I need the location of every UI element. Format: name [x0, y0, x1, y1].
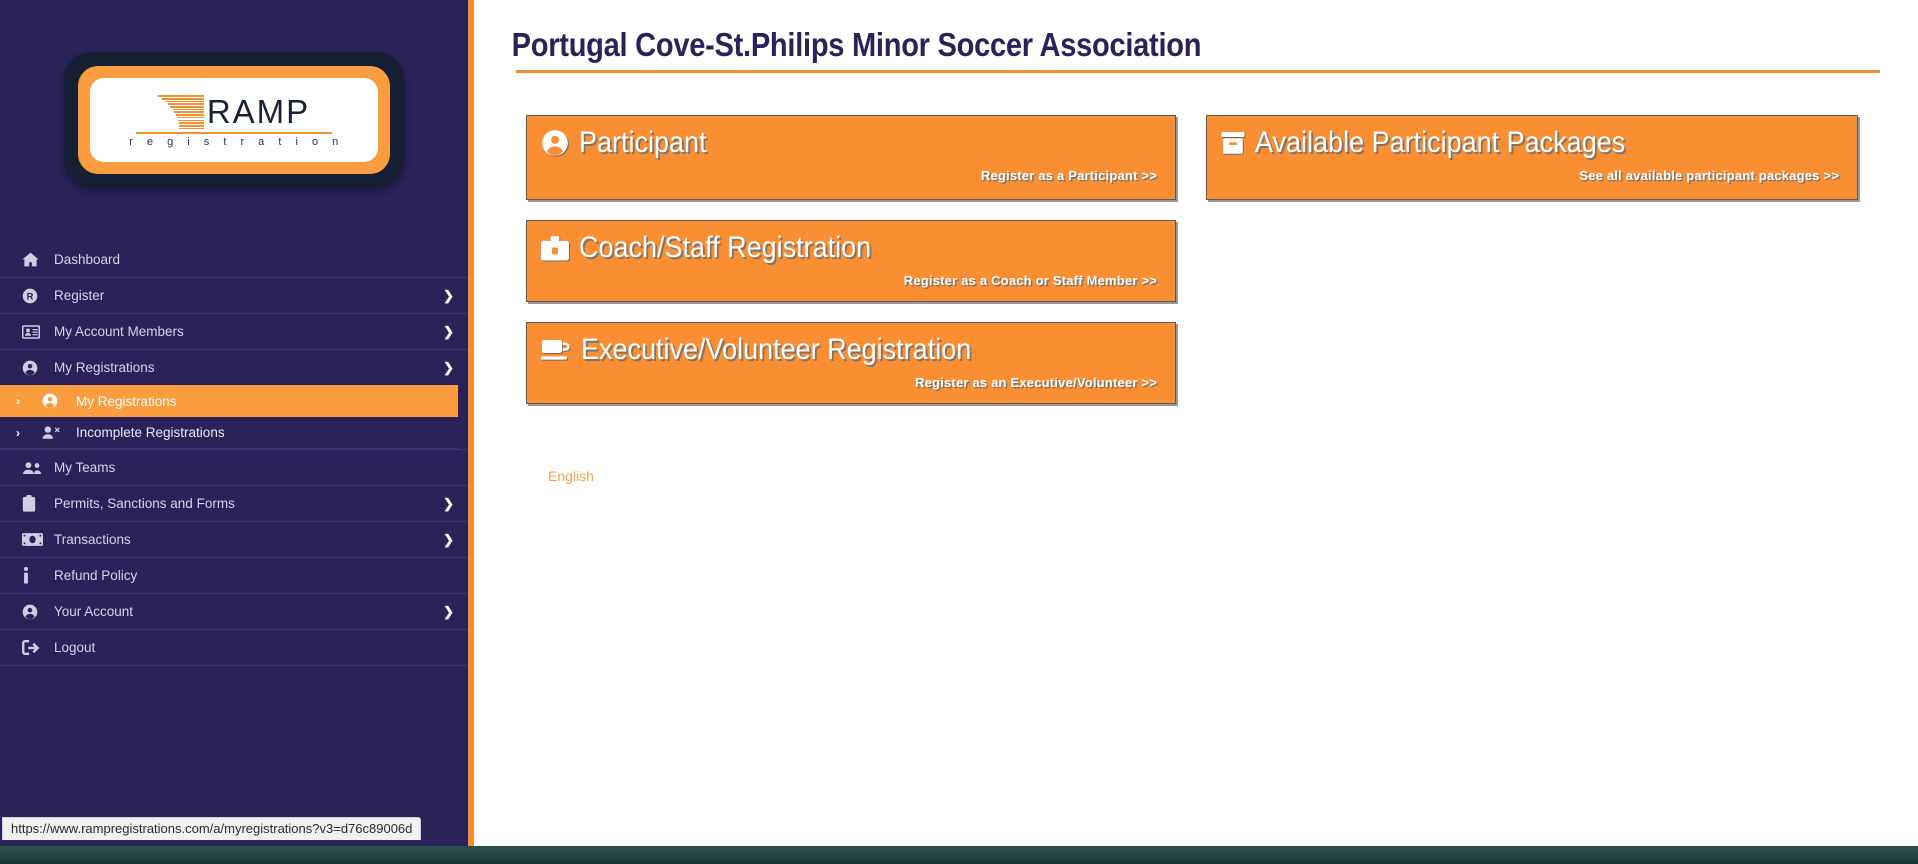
- logo-word: RAMP: [207, 95, 310, 129]
- main-content: Portugal Cove-St.Philips Minor Soccer As…: [480, 0, 1918, 864]
- sidebar-nav-bottom-divider: [0, 665, 468, 666]
- sidebar-label: Your Account: [48, 604, 133, 619]
- sidebar-label: Logout: [48, 640, 95, 655]
- ramp-logo[interactable]: RAMP r e g i s t r a t i o n: [64, 52, 404, 187]
- card-header: Participant: [541, 126, 1161, 160]
- card-header: Coach/Staff Registration: [541, 231, 1161, 265]
- card-executive-volunteer-registration[interactable]: Executive/Volunteer Registration Registe…: [526, 322, 1176, 404]
- sidebar-item-refund-policy[interactable]: Refund Policy: [0, 557, 468, 593]
- app-window: RAMP r e g i s t r a t i o n Dashboard: [0, 0, 1918, 864]
- sidebar-item-my-account-members[interactable]: My Account Members ❯: [0, 313, 468, 349]
- sidebar-nav: Dashboard R Register ❯ My Account Member…: [0, 241, 468, 666]
- sidebar-item-transactions[interactable]: Transactions ❯: [0, 521, 468, 557]
- page-title: Portugal Cove-St.Philips Minor Soccer As…: [480, 26, 1745, 64]
- sidebar-label: My Account Members: [48, 324, 184, 339]
- logo-divider: [136, 132, 332, 134]
- coffee-mug-icon: [541, 338, 571, 363]
- card-participant[interactable]: Participant Register as a Participant >>: [526, 115, 1176, 200]
- chevron-down-icon[interactable]: ❯: [443, 361, 454, 374]
- chevron-right-icon: ›: [16, 426, 42, 440]
- sidebar-item-my-registrations[interactable]: My Registrations ❯: [0, 349, 468, 385]
- user-circle-icon: [42, 393, 72, 409]
- user-circle-icon: [22, 360, 48, 376]
- cards-area: Participant Register as a Participant >>…: [480, 73, 1918, 486]
- chevron-down-icon[interactable]: ❯: [443, 605, 454, 618]
- card-subtitle[interactable]: Register as a Coach or Staff Member >>: [541, 273, 1161, 288]
- desktop-bottom-strip: [0, 846, 1918, 864]
- logo-subtitle: r e g i s t r a t i o n: [124, 136, 344, 148]
- sidebar-subitem-label: Incomplete Registrations: [72, 425, 225, 440]
- id-card-icon: [22, 325, 48, 339]
- sidebar-item-dashboard[interactable]: Dashboard: [0, 241, 468, 277]
- logo-white-plate: RAMP r e g i s t r a t i o n: [90, 78, 378, 162]
- sidebar-subitem-incomplete-registrations[interactable]: › Incomplete Registrations: [0, 417, 458, 449]
- language-link-english[interactable]: English: [548, 468, 594, 484]
- chevron-down-icon[interactable]: ❯: [443, 289, 454, 302]
- register-circle-icon: R: [22, 288, 48, 304]
- box-archive-icon: [1221, 131, 1245, 155]
- card-subtitle[interactable]: Register as an Executive/Volunteer >>: [541, 375, 1161, 390]
- logo-orange-frame: RAMP r e g i s t r a t i o n: [78, 66, 390, 174]
- card-coach-staff-registration[interactable]: Coach/Staff Registration Register as a C…: [526, 220, 1176, 302]
- sidebar-item-register[interactable]: R Register ❯: [0, 277, 468, 313]
- sidebar-label: My Registrations: [48, 360, 155, 375]
- chevron-right-icon: ›: [16, 394, 42, 408]
- sidebar-item-logout[interactable]: Logout: [0, 629, 468, 665]
- card-subtitle[interactable]: Register as a Participant >>: [541, 168, 1161, 183]
- card-available-participant-packages[interactable]: Available Participant Packages See all a…: [1206, 115, 1858, 200]
- sidebar-subitem-my-registrations[interactable]: › My Registrations: [0, 385, 458, 417]
- sidebar-subitem-label: My Registrations: [72, 394, 177, 409]
- home-icon: [22, 252, 48, 267]
- svg-text:R: R: [27, 291, 34, 301]
- user-circle-icon: [541, 129, 569, 157]
- card-title: Executive/Volunteer Registration: [581, 333, 971, 367]
- card-header: Available Participant Packages: [1221, 126, 1843, 160]
- chevron-down-icon[interactable]: ❯: [443, 325, 454, 338]
- sidebar-item-permits-sanctions-and-forms[interactable]: Permits, Sanctions and Forms ❯: [0, 485, 468, 521]
- card-title: Available Participant Packages: [1255, 126, 1625, 160]
- card-title: Participant: [579, 126, 707, 160]
- cards-column-left: Participant Register as a Participant >>…: [526, 115, 1176, 486]
- sidebar-label: Permits, Sanctions and Forms: [48, 496, 235, 511]
- logo-wordmark-row: RAMP: [158, 91, 310, 129]
- briefcase-icon: [541, 236, 569, 261]
- sidebar-label: Dashboard: [48, 252, 120, 267]
- card-header: Executive/Volunteer Registration: [541, 333, 1161, 367]
- info-icon: [22, 567, 48, 584]
- sidebar-label: Refund Policy: [48, 568, 137, 583]
- sidebar-label: Register: [48, 288, 104, 303]
- chevron-down-icon[interactable]: ❯: [443, 497, 454, 510]
- clipboard-icon: [22, 495, 48, 512]
- card-title: Coach/Staff Registration: [579, 231, 871, 265]
- sidebar-item-my-teams[interactable]: My Teams: [0, 449, 468, 485]
- sidebar-label: Transactions: [48, 532, 131, 547]
- sign-out-icon: [22, 640, 48, 655]
- status-bar-url: https://www.rampregistrations.com/a/myre…: [2, 817, 421, 840]
- money-bill-icon: [22, 533, 48, 546]
- cards-column-right: Available Participant Packages See all a…: [1206, 115, 1858, 486]
- chevron-down-icon[interactable]: ❯: [443, 533, 454, 546]
- user-times-icon: [42, 425, 72, 440]
- users-icon: [22, 461, 48, 475]
- ramp-chart-icon: [158, 95, 204, 129]
- card-subtitle[interactable]: See all available participant packages >…: [1221, 168, 1843, 183]
- sidebar: RAMP r e g i s t r a t i o n Dashboard: [0, 0, 474, 846]
- sidebar-label: My Teams: [48, 460, 115, 475]
- user-circle-icon: [22, 604, 48, 620]
- sidebar-item-your-account[interactable]: Your Account ❯: [0, 593, 468, 629]
